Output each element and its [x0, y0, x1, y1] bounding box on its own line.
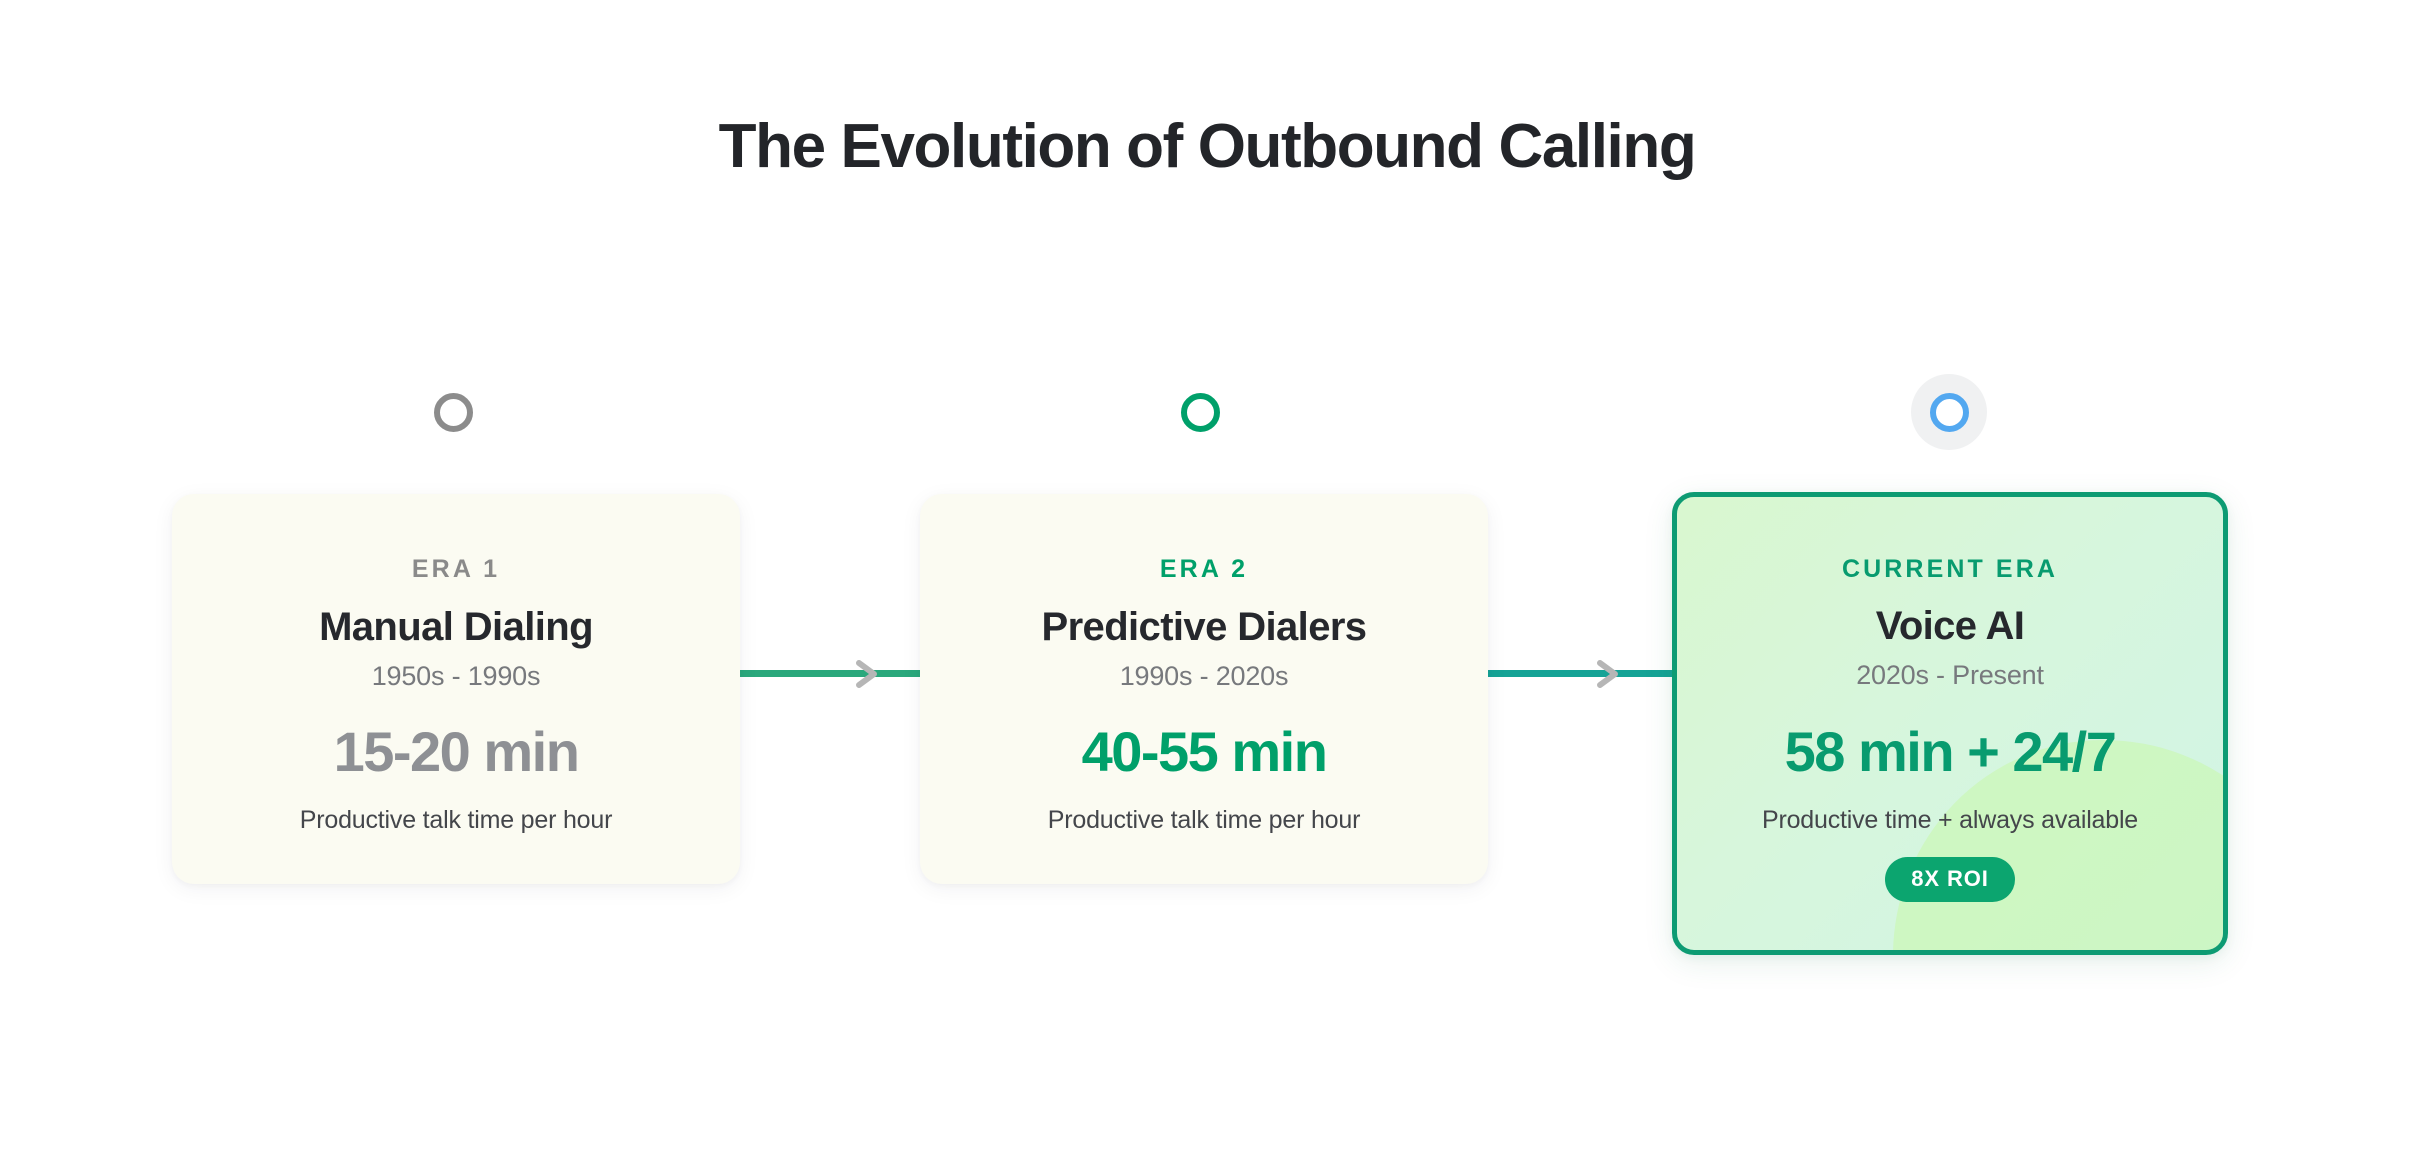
era-label: CURRENT ERA — [1842, 555, 2058, 584]
era-years: 2020s - Present — [1856, 660, 2044, 691]
era-name: Voice AI — [1876, 604, 2025, 649]
connector-era1-to-era2 — [737, 670, 927, 677]
circle-ring-icon — [1181, 393, 1220, 432]
infographic-canvas: The Evolution of Outbound Calling — [0, 0, 2414, 1164]
connector-era2-to-current — [1484, 670, 1680, 677]
marker-current-era — [1909, 372, 1989, 452]
era-metric: 40-55 min — [1082, 719, 1327, 784]
era-card-era-1[interactable]: ERA 1 Manual Dialing 1950s - 1990s 15-20… — [172, 494, 740, 884]
chevron-right-icon — [1589, 655, 1627, 693]
circle-ring-icon — [434, 393, 473, 432]
era-name: Predictive Dialers — [1042, 605, 1367, 650]
era-caption: Productive time + always available — [1762, 806, 2138, 835]
era-caption: Productive talk time per hour — [300, 806, 612, 835]
circle-ring-icon — [1930, 393, 1969, 432]
era-caption: Productive talk time per hour — [1048, 806, 1360, 835]
era-card-era-2[interactable]: ERA 2 Predictive Dialers 1990s - 2020s 4… — [920, 494, 1488, 884]
era-years: 1950s - 1990s — [372, 661, 541, 692]
era-label: ERA 2 — [1160, 555, 1248, 584]
timeline: ERA 1 Manual Dialing 1950s - 1990s 15-20… — [0, 0, 2414, 1164]
marker-era-2 — [1160, 372, 1240, 452]
era-metric: 15-20 min — [334, 719, 579, 784]
era-metric: 58 min + 24/7 — [1785, 719, 2116, 784]
era-name: Manual Dialing — [319, 605, 593, 650]
era-label: ERA 1 — [412, 555, 500, 584]
marker-era-1 — [413, 372, 493, 452]
era-years: 1990s - 2020s — [1120, 661, 1289, 692]
roi-badge: 8X ROI — [1885, 857, 2015, 902]
chevron-right-icon — [848, 655, 886, 693]
era-card-current-era[interactable]: CURRENT ERA Voice AI 2020s - Present 58 … — [1672, 492, 2228, 955]
